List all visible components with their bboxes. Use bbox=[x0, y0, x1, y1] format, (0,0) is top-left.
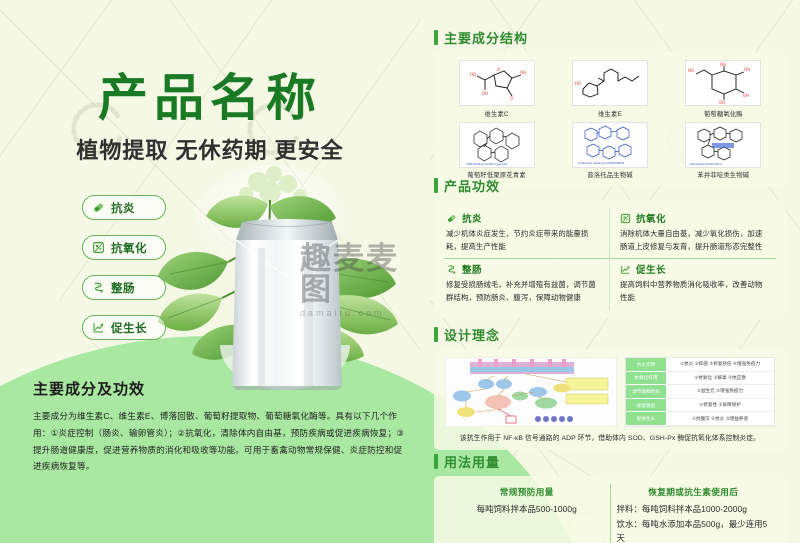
poster-canvas: 抗炎 抗氧化 整肠 bbox=[0, 0, 800, 543]
structure-image: C8H10O5 proanthocyanidin bbox=[459, 122, 535, 168]
svg-text:OH: OH bbox=[482, 91, 488, 96]
concept-row: 抗炎作用 抗氧化作用 调节菌群结构 修复肠道 促进生长 ①抗炎 ②抑菌 ③修复损… bbox=[444, 357, 776, 427]
protopine-alkaloid-structure-icon: protopine alkaloid C20H19NO5 bbox=[573, 123, 647, 167]
concept-table-row-label: 抗氧化作用 bbox=[626, 372, 666, 386]
svg-text:OH: OH bbox=[744, 67, 750, 72]
svg-text:OH: OH bbox=[720, 62, 726, 67]
section-dosage-title: 用法用量 bbox=[444, 452, 500, 471]
structure-image: HOOH OHOH OH bbox=[685, 60, 761, 106]
efficacy-item-header: 促生长 bbox=[620, 262, 767, 276]
section-accent-bar bbox=[434, 454, 438, 469]
feature-badge-antioxidant[interactable]: 抗氧化 bbox=[82, 235, 166, 260]
feature-badge-label: 抗炎 bbox=[111, 200, 135, 216]
concept-table-value: ①修复性 ②屏障保护 bbox=[666, 399, 774, 413]
concept-table-value: ①益生元 ②增强免疫力 bbox=[666, 385, 774, 399]
capsule-icon bbox=[446, 213, 457, 224]
growth-chart-icon bbox=[92, 321, 105, 334]
structure-item: HO 维生素E bbox=[557, 60, 662, 118]
structure-item: HOOH OHOH OH 葡萄糖氧化酶 bbox=[671, 60, 776, 118]
intestine-icon bbox=[446, 264, 457, 275]
concept-table-row-label: 促进生长 bbox=[626, 412, 666, 426]
antioxidant-icon bbox=[620, 213, 631, 224]
structure-image: HOOH OHO O bbox=[459, 60, 535, 106]
efficacy-item-text: 消除机体大量自由基，减少氧化损伤，加速肠道上皮修复与发育，提升肠道形态完整性 bbox=[620, 228, 767, 253]
efficacy-item-text: 减少机体炎症发生，节约炎症带来的能量损耗，提高生产性能 bbox=[446, 228, 600, 253]
product-package-image bbox=[228, 218, 346, 393]
efficacy-item-text: 提高饲料中营养物质消化吸收率，改善动物性能 bbox=[620, 279, 767, 304]
efficacy-item-header: 整肠 bbox=[446, 262, 600, 276]
proanthocyanidin-structure-icon: C8H10O5 proanthocyanidin bbox=[460, 123, 534, 167]
section-structures-header: 主要成分结构 bbox=[434, 28, 786, 47]
efficacy-item-header: 抗炎 bbox=[446, 211, 600, 225]
concept-table-value: ①抗腹泻 ②抗炎 ③增益养道 bbox=[666, 412, 774, 426]
section-concept-header: 设计理念 bbox=[434, 325, 786, 344]
structure-item: protopine alkaloid C20H19NO5 普洛托品生物碱 bbox=[557, 122, 662, 180]
section-concept-body: 抗炎作用 抗氧化作用 调节菌群结构 修复肠道 促进生长 ①抗炎 ②抑菌 ③修复损… bbox=[434, 349, 786, 450]
svg-text:protopine alkaloid C20H19NO5: protopine alkaloid C20H19NO5 bbox=[578, 161, 625, 165]
concept-table-value: ①抗氧化 ②解毒 ③抗应激 bbox=[666, 372, 774, 386]
feature-badge-anti-inflammatory[interactable]: 抗炎 bbox=[82, 195, 166, 220]
section-accent-bar bbox=[434, 178, 438, 193]
structure-item: C8H10O5 proanthocyanidin 葡萄籽低聚原花青素 bbox=[444, 122, 549, 180]
section-efficacy-body: 抗炎 减少机体炎症发生，节约炎症带来的能量损耗，提高生产性能 bbox=[434, 200, 786, 318]
structure-caption: 维生素E bbox=[598, 109, 622, 118]
svg-text:O: O bbox=[510, 96, 513, 101]
svg-text:OH: OH bbox=[520, 70, 526, 75]
growth-chart-icon bbox=[620, 264, 631, 275]
svg-text:C8H10O5 proanthocyanidin: C8H10O5 proanthocyanidin bbox=[466, 162, 508, 166]
efficacy-item-antioxidant: 抗氧化 消除机体大量自由基，减少氧化损伤，加速肠道上皮修复与发育，提升肠道形态完… bbox=[610, 208, 776, 259]
concept-table-row-label: 调节菌群结构 bbox=[626, 385, 666, 399]
svg-text:benzophenanthridine: benzophenanthridine bbox=[690, 162, 722, 166]
dosage-grid: 常规预防用量 每吨饲料拌本品500-1000g 恢复期或抗生素使用后 拌料：每吨… bbox=[444, 484, 776, 543]
structure-image: benzophenanthridine bbox=[685, 122, 761, 168]
vitamin-e-structure-icon: HO bbox=[573, 61, 647, 105]
feature-badge-label: 整肠 bbox=[111, 280, 135, 296]
dosage-heading: 常规预防用量 bbox=[450, 486, 604, 498]
efficacy-item-text: 修复受损肠绒毛，补充并增殖有益菌，调节菌群结构，预防肠炎、腹泻，保障动物健康 bbox=[446, 279, 600, 304]
feature-badge-growth[interactable]: 促生长 bbox=[82, 315, 166, 340]
chemical-structure-grid: HOOH OHO O 维生素C bbox=[444, 60, 776, 179]
concept-summary-table: 抗炎作用 抗氧化作用 调节菌群结构 修复肠道 促进生长 ①抗炎 ②抑菌 ③修复损… bbox=[625, 357, 775, 427]
svg-text:HO: HO bbox=[575, 81, 581, 86]
page-subtitle: 植物提取 无休药期 更安全 bbox=[0, 133, 420, 165]
antioxidant-icon bbox=[92, 241, 105, 254]
structure-image: protopine alkaloid C20H19NO5 bbox=[572, 122, 648, 168]
section-efficacy-title: 产品功效 bbox=[444, 176, 500, 195]
section-structures-title: 主要成分结构 bbox=[444, 28, 528, 47]
glucose-oxidase-structure-icon: HOOH OHOH OH bbox=[686, 61, 760, 105]
main-ingredients-body: 主要成分为维生素C、维生素E、博落回散、葡萄籽提取物、葡萄糖氧化酶等。具有以下几… bbox=[33, 408, 411, 475]
dosage-heading: 恢复期或抗生素使用后 bbox=[617, 486, 771, 498]
feature-badge-label: 促生长 bbox=[111, 320, 147, 336]
section-efficacy-header: 产品功效 bbox=[434, 176, 786, 195]
efficacy-item-name: 促生长 bbox=[636, 262, 666, 276]
efficacy-item-header: 抗氧化 bbox=[620, 211, 767, 225]
concept-table-value: ①抗炎 ②抑菌 ③修复损伤 ④增强免疫力 bbox=[666, 358, 774, 372]
dosage-column-preventive: 常规预防用量 每吨饲料拌本品500-1000g bbox=[444, 484, 611, 543]
efficacy-item-name: 整肠 bbox=[462, 262, 482, 276]
main-ingredients-section: 主要成分及功效 主要成分为维生素C、维生素E、博落回散、葡萄籽提取物、葡萄糖氧化… bbox=[33, 378, 411, 475]
efficacy-item-name: 抗炎 bbox=[462, 211, 482, 225]
section-accent-bar bbox=[434, 327, 438, 342]
section-dosage-header: 用法用量 bbox=[434, 452, 786, 471]
section-dosage-body: 常规预防用量 每吨饲料拌本品500-1000g 恢复期或抗生素使用后 拌料：每吨… bbox=[434, 476, 786, 543]
section-structures: 主要成分结构 HOOH bbox=[434, 28, 786, 187]
efficacy-grid: 抗炎 减少机体炎症发生，节约炎症带来的能量损耗，提高生产性能 bbox=[444, 208, 776, 310]
concept-caption: 该抗生作用于 NF-κB 信号通路的 ADP 环节，借助体内 SOD、GSH-P… bbox=[444, 432, 776, 442]
concept-table-row-labels: 抗炎作用 抗氧化作用 调节菌群结构 修复肠道 促进生长 bbox=[626, 358, 666, 426]
section-concept-title: 设计理念 bbox=[444, 325, 500, 344]
efficacy-item-anti-inflammatory: 抗炎 减少机体炎症发生，节约炎症带来的能量损耗，提高生产性能 bbox=[444, 208, 610, 259]
benzophenanthridine-alkaloid-structure-icon: benzophenanthridine bbox=[686, 123, 760, 167]
structure-item: HOOH OHO O 维生素C bbox=[444, 60, 549, 118]
section-efficacy: 产品功效 抗炎 减少机 bbox=[434, 176, 786, 318]
svg-text:OH: OH bbox=[719, 100, 725, 105]
intestine-icon bbox=[92, 281, 105, 294]
structure-caption: 维生素C bbox=[485, 109, 509, 118]
structure-image: HO bbox=[572, 60, 648, 106]
section-dosage: 用法用量 常规预防用量 每吨饲料拌本品500-1000g 恢复期或抗生素使用后 … bbox=[434, 452, 786, 543]
feature-badge-label: 抗氧化 bbox=[111, 240, 147, 256]
structure-item: benzophenanthridine 苯并菲啶类生物碱 bbox=[671, 122, 776, 180]
section-structures-body: HOOH OHO O 维生素C bbox=[434, 52, 786, 187]
feature-badge-list: 抗炎 抗氧化 整肠 bbox=[82, 195, 166, 355]
section-accent-bar bbox=[434, 30, 438, 45]
dosage-line: 饮水：每吨水添加本品500g，最少连用5天 bbox=[617, 517, 771, 543]
svg-text:OH: OH bbox=[743, 93, 749, 98]
efficacy-item-growth: 促生长 提高饲料中营养物质消化吸收率，改善动物性能 bbox=[610, 259, 776, 309]
concept-table-row-label: 修复肠道 bbox=[626, 399, 666, 413]
section-concept: 设计理念 bbox=[434, 325, 786, 450]
concept-table-values: ①抗炎 ②抑菌 ③修复损伤 ④增强免疫力 ①抗氧化 ②解毒 ③抗应激 ①益生元 … bbox=[666, 358, 774, 426]
structure-caption: 葡萄糖氧化酶 bbox=[704, 109, 743, 118]
main-ingredients-heading: 主要成分及功效 bbox=[33, 378, 411, 399]
concept-table-row-label: 抗炎作用 bbox=[626, 358, 666, 372]
capsule-icon bbox=[92, 201, 105, 214]
efficacy-item-name: 抗氧化 bbox=[636, 211, 666, 225]
dosage-column-recovery: 恢复期或抗生素使用后 拌料：每吨饲料拌本品1000-2000g 饮水：每吨水添加… bbox=[611, 484, 777, 543]
left-panel: 抗炎 抗氧化 整肠 bbox=[0, 0, 420, 543]
svg-text:HO: HO bbox=[688, 68, 694, 73]
vitamin-c-structure-icon: HOOH OHO O bbox=[460, 61, 534, 105]
feature-badge-intestine[interactable]: 整肠 bbox=[82, 275, 166, 300]
efficacy-item-intestine: 整肠 修复受损肠绒毛，补充并增殖有益菌，调节菌群结构，预防肠炎、腹泻，保障动物健… bbox=[444, 259, 610, 309]
dosage-line: 拌料：每吨饲料拌本品1000-2000g bbox=[617, 502, 771, 517]
page-title: 产品名称 bbox=[0, 58, 420, 130]
svg-text:HO: HO bbox=[470, 72, 476, 77]
svg-text:O: O bbox=[497, 67, 500, 72]
right-panel: 主要成分结构 HOOH bbox=[420, 0, 800, 543]
signaling-pathway-diagram bbox=[445, 357, 617, 427]
dosage-line: 每吨饲料拌本品500-1000g bbox=[450, 502, 604, 517]
